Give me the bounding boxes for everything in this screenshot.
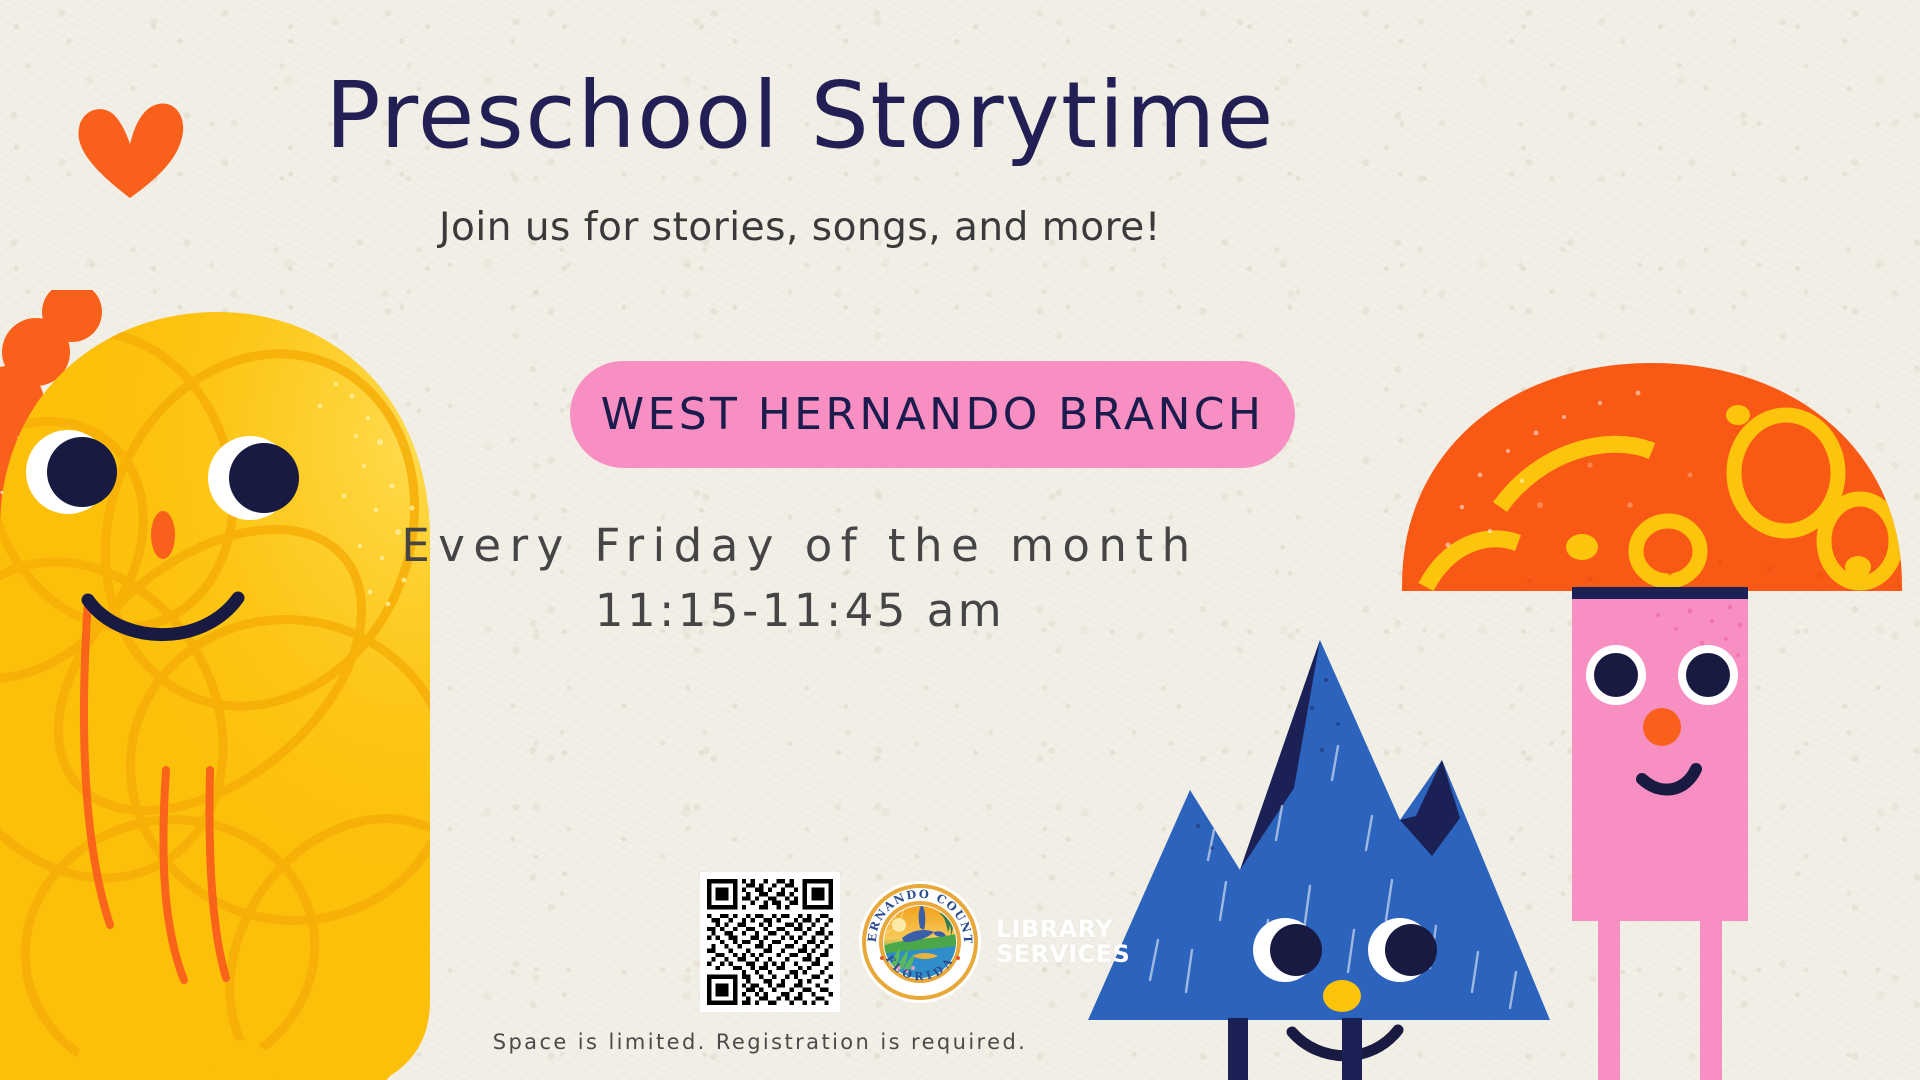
library-services-logo-text: LIBRARY SERVICES <box>996 917 1130 967</box>
mushroom-character <box>1390 355 1920 1080</box>
flyer-canvas: Preschool Storytime Join us for stories,… <box>0 0 1920 1080</box>
heart-icon <box>75 100 185 200</box>
library-services-line-2: SERVICES <box>996 942 1130 967</box>
event-date-line: Every Friday of the month <box>260 519 1340 572</box>
logo-row: HERNANDO COUNTY FLORIDA LIBRARY SERVICES <box>700 872 1130 1012</box>
branch-badge[interactable]: WEST HERNANDO BRANCH <box>570 361 1295 468</box>
subtitle: Join us for stories, songs, and more! <box>260 205 1340 250</box>
library-services-line-1: LIBRARY <box>996 917 1130 942</box>
registration-notice: Space is limited. Registration is requir… <box>260 1030 1260 1054</box>
qr-code-icon[interactable] <box>700 872 840 1012</box>
page-title: Preschool Storytime <box>260 62 1340 169</box>
event-time-line: 11:15-11:45 am <box>260 584 1340 637</box>
county-seal-icon: HERNANDO COUNTY FLORIDA <box>858 880 982 1004</box>
branch-badge-label: WEST HERNANDO BRANCH <box>601 389 1265 440</box>
yellow-monster-character <box>0 300 540 1080</box>
